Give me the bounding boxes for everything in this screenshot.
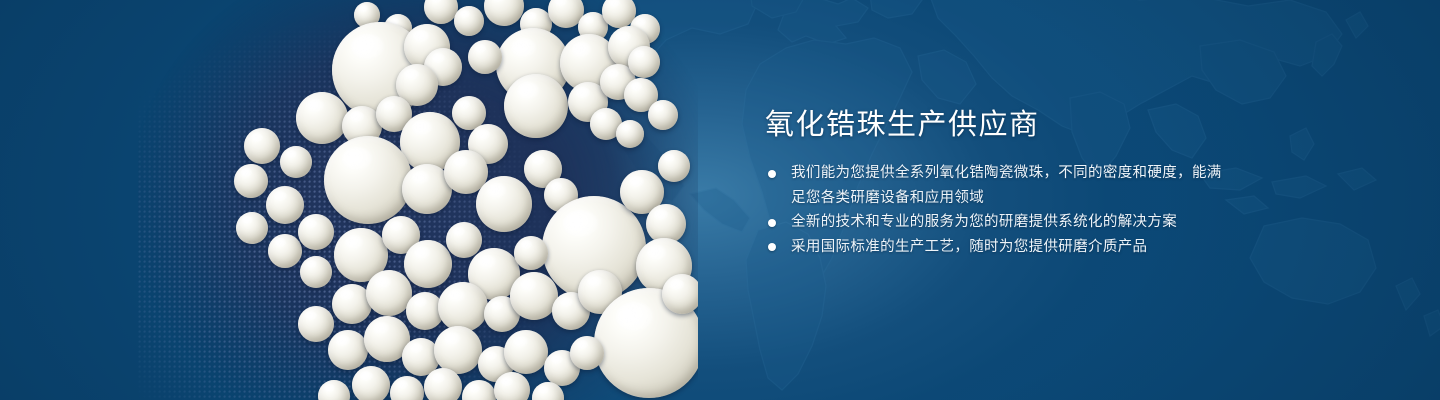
banner-copy: 氧化锆珠生产供应商 我们能为您提供全系列氧化锆陶瓷微珠，不同的密度和硬度，能满足… — [765, 104, 1235, 259]
bullet-dot-icon — [768, 170, 776, 178]
banner-bullet-item: 我们能为您提供全系列氧化锆陶瓷微珠，不同的密度和硬度，能满足您各类研磨设备和应用… — [765, 161, 1235, 210]
banner-headline: 氧化锆珠生产供应商 — [765, 104, 1235, 144]
banner-bullet-item: 全新的技术和专业的服务为您的研磨提供系统化的解决方案 — [765, 210, 1235, 235]
bullet-dot-icon — [768, 219, 776, 227]
banner-bullet-text: 全新的技术和专业的服务为您的研磨提供系统化的解决方案 — [791, 214, 1177, 230]
bullet-dot-icon — [768, 243, 776, 251]
banner-bullet-list: 我们能为您提供全系列氧化锆陶瓷微珠，不同的密度和硬度，能满足您各类研磨设备和应用… — [765, 161, 1235, 259]
banner-bullet-text: 我们能为您提供全系列氧化锆陶瓷微珠，不同的密度和硬度，能满足您各类研磨设备和应用… — [791, 165, 1222, 206]
banner-bullet-text: 采用国际标准的生产工艺，随时为您提供研磨介质产品 — [791, 239, 1147, 255]
bead-cluster — [138, 0, 698, 400]
banner-bullet-item: 采用国际标准的生产工艺，随时为您提供研磨介质产品 — [765, 235, 1235, 260]
zirconia-beads-photo — [138, 0, 698, 400]
hero-banner: 氧化锆珠生产供应商 我们能为您提供全系列氧化锆陶瓷微珠，不同的密度和硬度，能满足… — [0, 0, 1440, 400]
